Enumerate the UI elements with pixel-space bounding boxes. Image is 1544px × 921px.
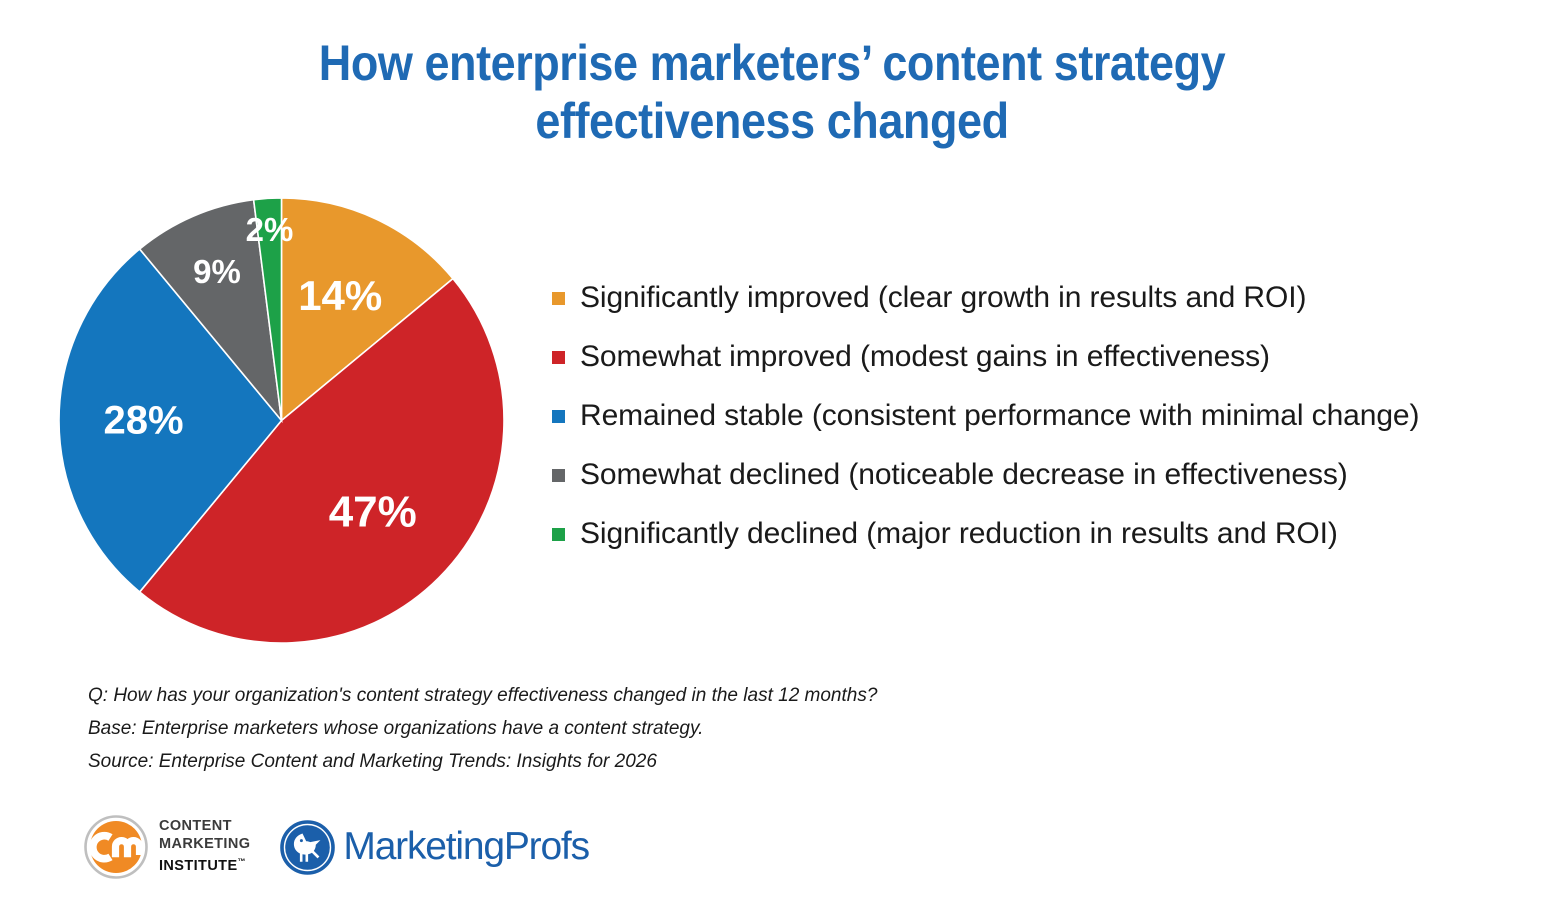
cmi-wordmark-line-2: MARKETING: [159, 836, 250, 854]
legend-swatch-icon: [552, 528, 565, 541]
legend-item-somewhat-improved[interactable]: Somewhat improved (modest gains in effec…: [552, 327, 1512, 386]
pie-slice-value-label: 9%: [193, 253, 241, 290]
legend-item-significantly-improved[interactable]: Significantly improved (clear growth in …: [552, 268, 1512, 327]
legend-swatch-icon: [552, 351, 565, 364]
legend-swatch-icon: [552, 292, 565, 305]
pie-slice-value-label: 2%: [246, 211, 294, 248]
legend-item-somewhat-declined[interactable]: Somewhat declined (noticeable decrease i…: [552, 445, 1512, 504]
footnote-base: Base: Enterprise marketers whose organiz…: [88, 712, 1288, 745]
legend-item-label: Significantly improved (clear growth in …: [580, 281, 1306, 315]
legend-item-significantly-declined[interactable]: Significantly declined (major reduction …: [552, 504, 1512, 563]
cmi-wordmark-line-3: INSTITUTE™: [159, 853, 250, 875]
legend-item-label: Significantly declined (major reduction …: [580, 517, 1338, 551]
page-title: How enterprise marketers’ content strate…: [77, 34, 1467, 150]
page-title-line-2: effectiveness changed: [77, 92, 1467, 150]
cmi-trademark-symbol: ™: [238, 857, 246, 866]
cmi-wordmark: CONTENT MARKETING INSTITUTE™: [159, 818, 250, 875]
pie-slice-value-label: 14%: [298, 272, 382, 319]
cmi-wordmark-line-1: CONTENT: [159, 818, 250, 836]
marketingprofs-wordmark: MarketingProfs: [343, 825, 588, 869]
cmi-wordmark-institute: INSTITUTE: [159, 858, 238, 874]
pie-slice-value-label: 47%: [329, 487, 417, 536]
page-title-line-1: How enterprise marketers’ content strate…: [77, 34, 1467, 92]
legend-swatch-icon: [552, 469, 565, 482]
logo-bar: CONTENT MARKETING INSTITUTE™ MarketingPr…: [84, 815, 589, 879]
legend-item-label: Somewhat declined (noticeable decrease i…: [580, 458, 1348, 492]
legend-swatch-icon: [552, 410, 565, 423]
content-marketing-institute-logo: CONTENT MARKETING INSTITUTE™: [84, 815, 250, 879]
cmi-circle-icon: [84, 815, 148, 879]
marketingprofs-bird-icon: [280, 820, 335, 875]
footnotes: Q: How has your organization's content s…: [88, 679, 1288, 778]
legend-item-remained-stable[interactable]: Remained stable (consistent performance …: [552, 386, 1512, 445]
footnote-question: Q: How has your organization's content s…: [88, 679, 1288, 712]
marketingprofs-logo: MarketingProfs: [280, 820, 588, 875]
pie-slice-value-label: 28%: [104, 399, 184, 443]
legend-item-label: Somewhat improved (modest gains in effec…: [580, 340, 1270, 374]
pie-chart-svg: 14%47%28%9%2%: [59, 198, 504, 643]
footnote-source: Source: Enterprise Content and Marketing…: [88, 745, 1288, 778]
chart-legend: Significantly improved (clear growth in …: [552, 268, 1512, 563]
pie-chart: 14%47%28%9%2%: [59, 198, 504, 643]
legend-item-label: Remained stable (consistent performance …: [580, 399, 1419, 433]
